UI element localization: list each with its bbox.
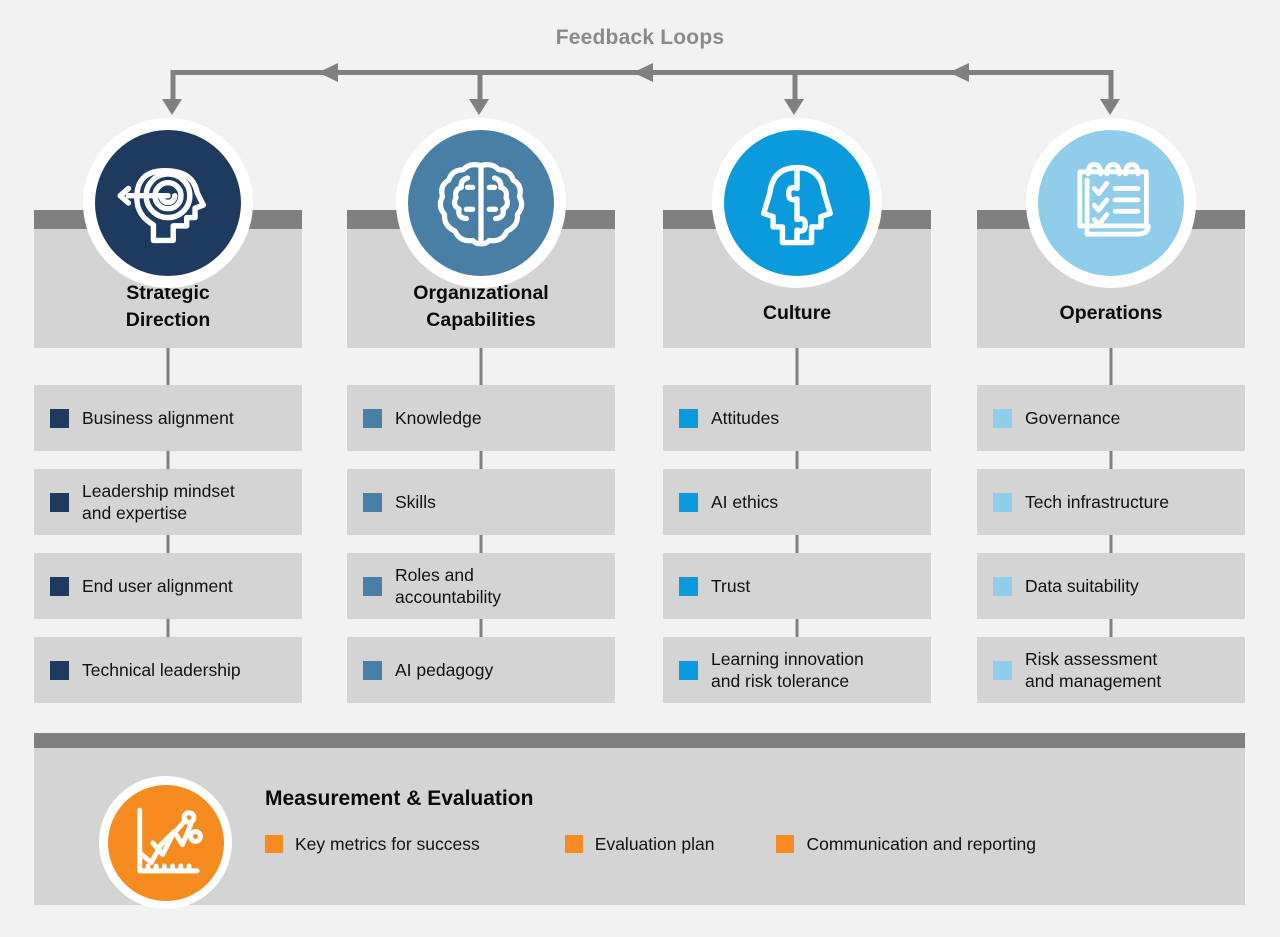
- list-item[interactable]: End user alignment: [34, 553, 302, 619]
- list-item[interactable]: Knowledge: [347, 385, 615, 451]
- item-label: Skills: [395, 491, 436, 513]
- connector-stub: [167, 619, 170, 637]
- target-head-icon: [116, 151, 220, 255]
- item-bullet-swatch: [993, 493, 1012, 512]
- connector-stub: [1110, 535, 1113, 553]
- item-bullet-swatch: [50, 493, 69, 512]
- item-bullet-swatch: [265, 835, 283, 853]
- diagram-canvas: Feedback Loops Strategic: [0, 0, 1280, 937]
- pillar-items: Attitudes AI ethics Trust Learning innov…: [663, 385, 931, 721]
- list-item[interactable]: Trust: [663, 553, 931, 619]
- item-bullet-swatch: [993, 409, 1012, 428]
- pillar-title-line1: Operations: [1060, 302, 1163, 324]
- pillar-items: Governance Tech infrastructure Data suit…: [977, 385, 1245, 721]
- connector-stub: [480, 535, 483, 553]
- list-item[interactable]: Evaluation plan: [565, 833, 715, 855]
- item-label: Tech infrastructure: [1025, 491, 1169, 513]
- feedback-loop-arrows: [0, 0, 1280, 130]
- item-bullet-swatch: [679, 577, 698, 596]
- connector-stub: [1110, 451, 1113, 469]
- item-label: Roles andaccountability: [395, 564, 501, 609]
- item-label: Attitudes: [711, 407, 779, 429]
- list-item[interactable]: Skills: [347, 469, 615, 535]
- pillar-items: Knowledge Skills Roles andaccountability…: [347, 385, 615, 721]
- pillar-title-line2: Direction: [126, 309, 211, 331]
- list-item[interactable]: Tech infrastructure: [977, 469, 1245, 535]
- list-item[interactable]: Communication and reporting: [776, 833, 1036, 855]
- measurement-items: Key metrics for success Evaluation plan …: [265, 833, 1036, 855]
- list-item[interactable]: AI pedagogy: [347, 637, 615, 703]
- list-item[interactable]: Data suitability: [977, 553, 1245, 619]
- pillar-title: Strategic Direction: [34, 280, 302, 334]
- measurement-icon-circle: [99, 776, 232, 909]
- item-bullet-swatch: [363, 577, 382, 596]
- brain-icon: [429, 151, 533, 255]
- item-label: Leadership mindsetand expertise: [82, 480, 235, 525]
- pillar-icon-circle: [396, 118, 566, 288]
- list-item[interactable]: Technical leadership: [34, 637, 302, 703]
- item-bullet-swatch: [50, 409, 69, 428]
- item-bullet-swatch: [363, 493, 382, 512]
- connector-stub: [796, 535, 799, 553]
- pillar-icon-circle: [712, 118, 882, 288]
- item-bullet-swatch: [679, 661, 698, 680]
- pillar-icon-circle: [83, 118, 253, 288]
- item-label: AI ethics: [711, 491, 778, 513]
- list-item[interactable]: Risk assessmentand management: [977, 637, 1245, 703]
- item-bullet-swatch: [993, 661, 1012, 680]
- measurement-title: Measurement & Evaluation: [265, 787, 533, 811]
- connector-stub: [796, 619, 799, 637]
- pillar-title-line1: Culture: [763, 302, 831, 324]
- connector-stub: [480, 451, 483, 469]
- pillar-title: Organizational Capabilities: [347, 280, 615, 334]
- connector-stub: [796, 451, 799, 469]
- item-label: Governance: [1025, 407, 1120, 429]
- pillar-title: Culture: [663, 300, 931, 327]
- puzzle-head-icon: [745, 151, 849, 255]
- list-item[interactable]: AI ethics: [663, 469, 931, 535]
- item-label: Technical leadership: [82, 659, 241, 681]
- measurement-evaluation-panel[interactable]: Measurement & Evaluation Key metrics for…: [34, 733, 1245, 905]
- item-bullet-swatch: [993, 577, 1012, 596]
- item-bullet-swatch: [565, 835, 583, 853]
- item-label: Risk assessmentand management: [1025, 648, 1161, 693]
- item-label: Evaluation plan: [595, 833, 715, 855]
- connector-stub: [1110, 619, 1113, 637]
- pillar-items: Business alignment Leadership mindsetand…: [34, 385, 302, 721]
- pillar-title: Operations: [977, 300, 1245, 327]
- item-label: Communication and reporting: [806, 833, 1036, 855]
- list-item[interactable]: Governance: [977, 385, 1245, 451]
- item-bullet-swatch: [50, 577, 69, 596]
- list-item[interactable]: Key metrics for success: [265, 833, 480, 855]
- pillar-title-line2: Capabilities: [426, 309, 535, 331]
- connector-stub: [796, 348, 799, 385]
- item-label: Data suitability: [1025, 575, 1139, 597]
- connector-stub: [167, 451, 170, 469]
- connector-stub: [1110, 348, 1113, 385]
- list-item[interactable]: Attitudes: [663, 385, 931, 451]
- item-bullet-swatch: [776, 835, 794, 853]
- item-label: Learning innovationand risk tolerance: [711, 648, 864, 693]
- item-label: AI pedagogy: [395, 659, 493, 681]
- item-label: Business alignment: [82, 407, 234, 429]
- list-item[interactable]: Roles andaccountability: [347, 553, 615, 619]
- item-bullet-swatch: [363, 661, 382, 680]
- item-bullet-swatch: [679, 493, 698, 512]
- item-label: End user alignment: [82, 575, 233, 597]
- pillar-icon-circle: [1026, 118, 1196, 288]
- item-label: Knowledge: [395, 407, 482, 429]
- list-item[interactable]: Learning innovationand risk tolerance: [663, 637, 931, 703]
- checklist-notepad-icon: [1059, 151, 1163, 255]
- connector-stub: [480, 619, 483, 637]
- item-label: Key metrics for success: [295, 833, 480, 855]
- item-bullet-swatch: [50, 661, 69, 680]
- line-chart-icon: [125, 802, 207, 884]
- connector-stub: [167, 535, 170, 553]
- item-bullet-swatch: [679, 409, 698, 428]
- list-item[interactable]: Leadership mindsetand expertise: [34, 469, 302, 535]
- item-bullet-swatch: [363, 409, 382, 428]
- connector-stub: [480, 348, 483, 385]
- item-label: Trust: [711, 575, 750, 597]
- connector-stub: [167, 348, 170, 385]
- list-item[interactable]: Business alignment: [34, 385, 302, 451]
- panel-accent-bar: [34, 733, 1245, 748]
